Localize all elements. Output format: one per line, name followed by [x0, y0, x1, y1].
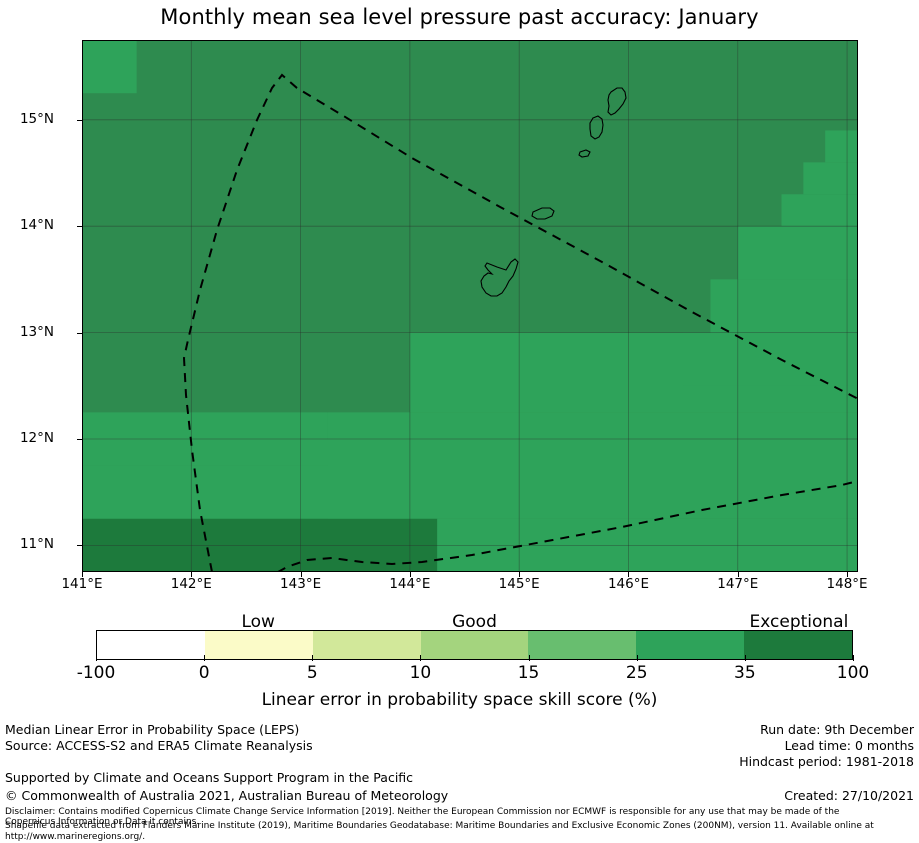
y-axis-tick-label: 11°N	[0, 536, 54, 552]
colorbar-tick-label: 35	[700, 663, 790, 683]
heatmap-cell	[781, 194, 858, 226]
footer-leps-line: Median Linear Error in Probability Space…	[5, 722, 299, 737]
colorbar-tick-label: 0	[159, 663, 249, 683]
colorbar-tick-mark	[745, 655, 746, 661]
x-axis-tick-label: 141°E	[42, 576, 122, 592]
heatmap-cell	[803, 162, 858, 194]
heatmap-cell	[710, 279, 858, 332]
colorbar-quality-label: Low	[158, 612, 358, 632]
y-axis-tick-label: 14°N	[0, 217, 54, 233]
colorbar-gradient	[96, 630, 853, 660]
x-axis-tick-label: 146°E	[588, 576, 668, 592]
footer-support: Supported by Climate and Oceans Support …	[5, 770, 413, 785]
colorbar-segment	[205, 631, 313, 659]
footer-disclaimer-4: http://www.marineregions.org/.	[5, 832, 145, 843]
y-axis-tick-label: 15°N	[0, 111, 54, 127]
y-axis-tick-mark	[77, 545, 82, 546]
map-raster	[82, 40, 858, 572]
x-axis-tick-label: 145°E	[479, 576, 559, 592]
rota-outline	[532, 208, 554, 219]
y-axis-tick-mark	[77, 439, 82, 440]
colorbar-tick-mark	[853, 655, 854, 661]
x-axis-tick-label: 142°E	[151, 576, 231, 592]
guam-outline	[481, 259, 518, 296]
colorbar-segment	[636, 631, 744, 659]
x-axis-tick-label: 148°E	[807, 576, 887, 592]
y-axis-tick-mark	[77, 120, 82, 121]
footer-copyright: © Commonwealth of Australia 2021, Austra…	[5, 788, 448, 803]
footer-created: Created: 27/10/2021	[784, 788, 914, 803]
map-panel	[82, 40, 858, 572]
colorbar-tick-label: -100	[51, 663, 141, 683]
footer-disclaimer-3: Shapefile data extracted from Flanders M…	[5, 821, 874, 832]
y-axis-tick-mark	[77, 333, 82, 334]
heatmap-cell	[328, 412, 858, 518]
colorbar-quality-label: Exceptional	[699, 612, 899, 632]
x-axis-tick-mark	[628, 572, 629, 577]
colorbar-segment	[421, 631, 529, 659]
y-axis-tick-mark	[77, 226, 82, 227]
heatmap-cell	[738, 226, 858, 279]
x-axis-tick-mark	[191, 572, 192, 577]
x-axis-tick-label: 144°E	[370, 576, 450, 592]
colorbar-tick-label: 100	[808, 663, 898, 683]
colorbar-tick-label: 25	[592, 663, 682, 683]
heatmap-cell	[683, 333, 858, 386]
footer-run-date: Run date: 9th December	[760, 722, 914, 737]
colorbar-segment	[528, 631, 636, 659]
y-axis-tick-label: 13°N	[0, 324, 54, 340]
saipan-outline	[608, 88, 626, 115]
x-axis-tick-mark	[847, 572, 848, 577]
colorbar-tick-label: 5	[267, 663, 357, 683]
chart-title: Monthly mean sea level pressure past acc…	[0, 0, 919, 34]
colorbar-axis-label: Linear error in probability space skill …	[0, 690, 919, 710]
aguijan-outline	[579, 150, 590, 157]
footer-source-line: Source: ACCESS-S2 and ERA5 Climate Reana…	[5, 738, 313, 753]
colorbar-tick-mark	[529, 655, 530, 661]
colorbar-tick-mark	[96, 655, 97, 661]
x-axis-tick-label: 147°E	[698, 576, 778, 592]
x-axis-tick-mark	[82, 572, 83, 577]
colorbar-segment	[97, 631, 205, 659]
colorbar-tick-mark	[312, 655, 313, 661]
map-cells-layer	[82, 40, 858, 572]
heatmap-cell	[82, 40, 137, 93]
colorbar-segment	[744, 631, 852, 659]
footer-lead-time: Lead time: 0 months	[785, 738, 914, 753]
y-axis-tick-label: 12°N	[0, 430, 54, 446]
colorbar	[96, 630, 853, 660]
x-axis-tick-mark	[519, 572, 520, 577]
island-outlines	[481, 88, 626, 296]
x-axis-tick-label: 143°E	[261, 576, 341, 592]
colorbar-tick-mark	[420, 655, 421, 661]
x-axis-tick-mark	[738, 572, 739, 577]
footer-hindcast: Hindcast period: 1981-2018	[739, 754, 914, 769]
colorbar-tick-label: 15	[484, 663, 574, 683]
x-axis-tick-mark	[410, 572, 411, 577]
colorbar-tick-label: 10	[375, 663, 465, 683]
colorbar-tick-mark	[637, 655, 638, 661]
colorbar-quality-label: Good	[375, 612, 575, 632]
colorbar-tick-mark	[204, 655, 205, 661]
heatmap-cell	[825, 130, 858, 162]
colorbar-segment	[313, 631, 421, 659]
x-axis-tick-mark	[301, 572, 302, 577]
